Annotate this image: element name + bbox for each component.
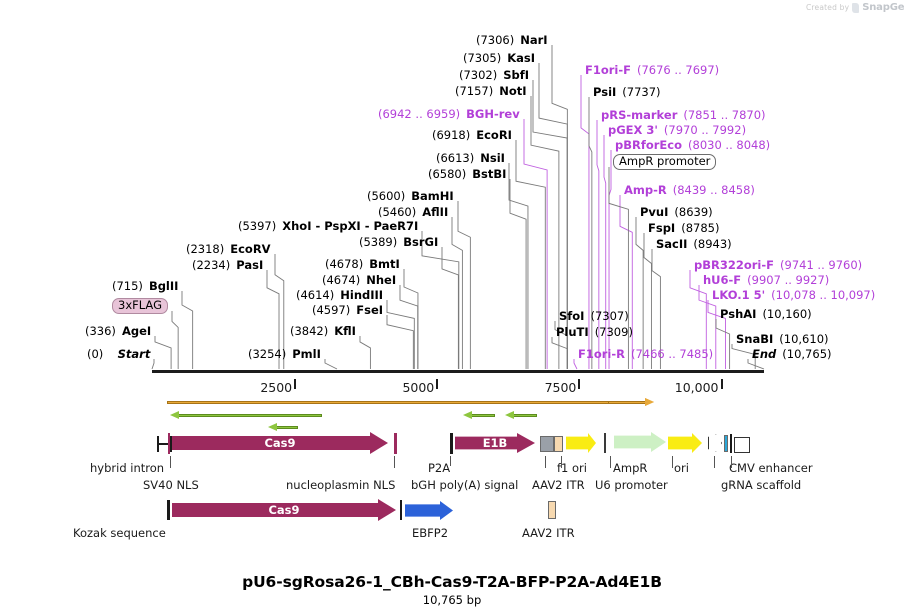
sv40-nls-marker (168, 433, 170, 454)
feature-connector (561, 456, 562, 468)
ruler-tick-label: 7500 (545, 380, 577, 395)
leader-line (516, 140, 545, 369)
primer-arrow-primer-2[interactable] (608, 398, 654, 407)
enzyme-position: (5397) (238, 219, 276, 233)
leader-line (387, 300, 414, 369)
enzyme-position: (4678) (325, 257, 363, 271)
primer-arrowhead-icon (645, 398, 654, 406)
enzyme-name: PmlI (292, 347, 321, 361)
enzyme-position: (6580) (428, 167, 466, 181)
feature-label-aav2-itr[interactable]: AAV2 ITR (522, 526, 575, 540)
enzyme-position: (7970 .. 7992) (664, 123, 746, 137)
feature-connector (714, 456, 715, 468)
enzyme-label-nari[interactable]: (7306)NarI (476, 34, 548, 46)
enzyme-position: (7737) (622, 85, 660, 99)
enzyme-name: BstBI (472, 167, 506, 181)
leader-line (152, 359, 154, 369)
feature-cmv-box[interactable] (734, 437, 750, 453)
enzyme-label-snabi[interactable]: SnaBI(10,610) (736, 333, 829, 345)
start-name: Start (118, 347, 151, 361)
enzyme-label-kasi[interactable]: (7305)KasI (463, 52, 535, 64)
enzyme-name: F1ori-R (578, 347, 625, 361)
enzyme-position: (6613) (436, 151, 474, 165)
enzyme-label-nsii[interactable]: (6613)NsiI (436, 152, 505, 164)
enzyme-position: (10,610) (779, 332, 828, 346)
grna-left-bracket (730, 434, 732, 453)
primer-arrow-primer-6[interactable] (268, 423, 298, 432)
enzyme-name: NotI (499, 84, 526, 98)
feature-label-ampr[interactable]: AmpR (613, 461, 647, 475)
enzyme-label-xhoi-pspxi-paer7i[interactable]: (5397)XhoI - PspXI - PaeR7I (238, 220, 418, 232)
enzyme-position: (2318) (186, 242, 224, 256)
enzyme-name: FspI (648, 221, 675, 235)
enzyme-label-fspi[interactable]: FspI(8785) (648, 222, 719, 234)
enzyme-position: (4674) (322, 273, 360, 287)
enzyme-position: (8639) (674, 205, 712, 219)
feature-label-sv40-nls[interactable]: SV40 NLS (143, 478, 199, 492)
enzyme-position: (336) (85, 324, 116, 338)
leader-line (716, 319, 730, 369)
feature-label-kozak-sequence[interactable]: Kozak sequence (73, 526, 166, 540)
feature-connector (610, 456, 611, 468)
ruler-tick (721, 379, 723, 389)
enzyme-name: BamHI (411, 189, 453, 203)
feature-connector (672, 456, 673, 468)
feature-label-grna-scaffold[interactable]: gRNA scaffold (721, 478, 801, 492)
ruler-tick-label: 5000 (402, 380, 434, 395)
feature-inner-label: E1B (455, 436, 535, 450)
ruler-tick (294, 379, 296, 389)
enzyme-position: (9741 .. 9760) (780, 258, 862, 272)
feature-inner-label: Cas9 (172, 436, 388, 450)
ruler-bar (152, 370, 764, 373)
kozak-marker (167, 500, 170, 520)
enzyme-position: (5389) (359, 235, 397, 249)
enzyme-name: SnaBI (736, 332, 773, 346)
leader-line (620, 195, 632, 369)
enzyme-position: (7466 .. 7485) (631, 347, 713, 361)
enzyme-position: (10,765) (782, 347, 831, 361)
primer-arrow-primer-3[interactable] (170, 411, 322, 420)
ruler-tick-label: 10,000 (675, 380, 719, 395)
enzyme-label-pgex-3-[interactable]: pGEX 3'(7970 .. 7992) (608, 124, 746, 136)
feature-label-u6-promoter[interactable]: U6 promoter (595, 478, 668, 492)
feature-label-ebfp2[interactable]: EBFP2 (412, 526, 448, 540)
feature-grna-blue[interactable] (724, 435, 728, 452)
enzyme-label-prs-marker[interactable]: pRS-marker(7851 .. 7870) (601, 109, 766, 121)
feature-bgh-box[interactable] (540, 436, 554, 452)
enzyme-position: (6942 .. 6959) (378, 107, 460, 121)
leader-line (325, 359, 337, 369)
enzyme-label-end[interactable]: End(10,765) (752, 348, 832, 360)
enzyme-name: pBRforEco (615, 138, 682, 152)
primer-arrow-primer-4[interactable] (463, 411, 495, 420)
enzyme-name: PshAI (720, 307, 756, 321)
leader-line (172, 311, 178, 369)
enzyme-label-hu6-f[interactable]: hU6-F(9907 .. 9927) (703, 274, 829, 286)
leader-line (510, 179, 526, 369)
enzyme-position: (7302) (459, 68, 497, 82)
enzyme-name: Amp-R (624, 183, 667, 197)
primer-arrowhead-icon (505, 411, 514, 419)
enzyme-name: PasI (236, 258, 263, 272)
primer-arrowhead-icon (170, 411, 179, 419)
u6-left-bracket (604, 433, 606, 453)
feature-itr-box[interactable] (554, 436, 563, 452)
feature-connector (170, 456, 171, 468)
ruler-tick (578, 379, 580, 389)
enzyme-name: NheI (366, 273, 396, 287)
enzyme-label-amp-r[interactable]: Amp-R(8439 .. 8458) (624, 184, 755, 196)
enzyme-label-bglii[interactable]: (715)BglII (112, 280, 178, 292)
feature-label-bgh-poly-a-signal[interactable]: bGH poly(A) signal (411, 478, 518, 492)
enzyme-name: FseI (356, 303, 383, 317)
leader-line (387, 315, 413, 369)
enzyme-name: XhoI - PspXI - PaeR7I (282, 219, 418, 233)
enzyme-position: (7851 .. 7870) (683, 108, 765, 122)
enzyme-name: EcoRI (476, 128, 512, 142)
enzyme-name: End (752, 347, 776, 361)
enzyme-position: (6918) (432, 128, 470, 142)
enzyme-label-ecori[interactable]: (6918)EcoRI (432, 129, 512, 141)
leader-line (524, 119, 547, 369)
enzyme-name: pBR322ori-F (694, 258, 774, 272)
enzyme-label-bstbi[interactable]: (6580)BstBI (428, 168, 506, 180)
enzyme-name: AgeI (122, 324, 151, 338)
enzyme-name: SfoI (559, 309, 584, 323)
leader-line (182, 291, 193, 369)
enzyme-name: LKO.1 5' (712, 288, 765, 302)
enzyme-position: (10,160) (762, 307, 811, 321)
enzyme-label-bgh-rev[interactable]: (6942 .. 6959)BGH-rev (378, 108, 520, 120)
enzyme-position: (5460) (378, 205, 416, 219)
enzyme-position: (8943) (693, 237, 731, 251)
enzyme-label-bamhi[interactable]: (5600)BamHI (367, 190, 454, 202)
feature-aav2itr2[interactable] (548, 501, 556, 519)
enzyme-name: BglII (149, 279, 179, 293)
leader-line (509, 163, 528, 369)
feature-label-ori[interactable]: ori (674, 461, 689, 475)
enzyme-position: (3842) (290, 324, 328, 338)
enzyme-name: AflII (422, 205, 448, 219)
ruler-tick-label: 2500 (260, 380, 292, 395)
start-label: (0) Start (87, 348, 150, 360)
enzyme-position: (8030 .. 8048) (688, 138, 770, 152)
enzyme-label-sfoi[interactable]: SfoI(7307) (559, 310, 629, 322)
enzyme-name: pRS-marker (601, 108, 677, 122)
enzyme-position: (4597) (312, 303, 350, 317)
primer-arrow-primer-1[interactable] (167, 398, 654, 407)
enzyme-label-noti[interactable]: (7157)NotI (455, 85, 527, 97)
boxed-feature-label-ampr-promoter[interactable]: AmpR promoter (613, 154, 716, 170)
feature-connector (450, 456, 451, 466)
enzyme-name: EcoRV (230, 242, 270, 256)
enzyme-label-f1ori-r[interactable]: F1ori-R(7466 .. 7485) (578, 348, 713, 360)
feature-connector (731, 456, 732, 468)
enzyme-name: BsrGI (403, 235, 438, 249)
feature-connector (394, 456, 395, 468)
leader-line (404, 269, 418, 369)
enzyme-position: (7157) (455, 84, 493, 98)
enzyme-label-pluti[interactable]: PluTI(7309) (556, 326, 633, 338)
enzyme-name: KasI (507, 51, 535, 65)
enzyme-position: (4614) (296, 288, 334, 302)
leader-line (442, 247, 458, 369)
enzyme-label-bsrgi[interactable]: (5389)BsrGI (359, 236, 438, 248)
enzyme-name: NsiI (480, 151, 505, 165)
enzyme-label-pasi[interactable]: (2234)PasI (192, 259, 263, 271)
enzyme-position: (3254) (248, 347, 286, 361)
nucleoplasmin-nls-marker (394, 433, 397, 454)
enzyme-position: (9907 .. 9927) (747, 273, 829, 287)
leader-line (155, 336, 171, 369)
enzyme-label-pbrforeco[interactable]: pBRforEco(8030 .. 8048) (615, 139, 770, 151)
leader-line (452, 217, 462, 369)
ruler-tick (436, 379, 438, 389)
feature-label-aav2-itr[interactable]: AAV2 ITR (532, 478, 585, 492)
page-title: pU6-sgRosa26-1_CBh-Cas9-T2A-BFP-P2A-Ad4E… (0, 573, 904, 591)
feature-label-hybrid-intron[interactable]: hybrid intron (90, 461, 164, 475)
enzyme-label-lko-1-5-[interactable]: LKO.1 5'(10,078 .. 10,097) (712, 289, 875, 301)
enzyme-position: (7307) (590, 309, 628, 323)
ebfp2-marker (400, 500, 402, 520)
enzyme-position: (7676 .. 7697) (637, 63, 719, 77)
enzyme-name: SacII (656, 237, 687, 251)
enzyme-label-pshai[interactable]: PshAI(10,160) (720, 308, 812, 320)
primer-arrowhead-icon (463, 411, 472, 419)
enzyme-position: (7309) (595, 325, 633, 339)
leader-line (552, 337, 568, 369)
enzyme-label-agei[interactable]: (336)AgeI (85, 325, 151, 337)
enzyme-label-sacii[interactable]: SacII(8943) (656, 238, 732, 250)
ruler-bar-lower (152, 375, 764, 379)
feature-label-p2a[interactable]: P2A (428, 461, 450, 475)
enzyme-label-hindiii[interactable]: (4614)HindIII (296, 289, 383, 301)
enzyme-label-f1ori-f[interactable]: F1ori-F(7676 .. 7697) (585, 64, 719, 76)
enzyme-position: (7305) (463, 51, 501, 65)
enzyme-label-pvui[interactable]: PvuI(8639) (640, 206, 713, 218)
leader-line (574, 359, 577, 369)
enzyme-name: NarI (520, 33, 547, 47)
feature-label-cmv-enhancer[interactable]: CMV enhancer (729, 461, 813, 475)
enzyme-label-pbr322ori-f[interactable]: pBR322ori-F(9741 .. 9760) (694, 259, 862, 271)
enzyme-name: BmtI (369, 257, 400, 271)
enzyme-label-kfli[interactable]: (3842)KflI (290, 325, 356, 337)
enzyme-position: (7306) (476, 33, 514, 47)
leader-line (458, 201, 470, 369)
enzyme-name: pGEX 3' (608, 123, 658, 137)
enzyme-position: (8785) (681, 221, 719, 235)
primer-arrowhead-icon (268, 423, 277, 431)
enzyme-label-bmti[interactable]: (4678)BmtI (325, 258, 400, 270)
start-position: (0) (87, 347, 103, 361)
boxed-feature-label-3xflag[interactable]: 3xFLAG (112, 298, 168, 314)
enzyme-label-pmli[interactable]: (3254)PmlI (248, 348, 321, 360)
p2a-marker (450, 433, 453, 454)
leader-line (360, 336, 370, 369)
leader-line (539, 63, 567, 369)
enzyme-name: BGH-rev (466, 107, 520, 121)
enzyme-label-nhei[interactable]: (4674)NheI (322, 274, 396, 286)
primer-arrow-primer-5[interactable] (505, 411, 537, 420)
enzyme-position: (2234) (192, 258, 230, 272)
enzyme-name: hU6-F (703, 273, 741, 287)
enzyme-label-aflii[interactable]: (5460)AflII (378, 206, 448, 218)
feature-label-nucleoplasmin-nls[interactable]: nucleoplasmin NLS (286, 478, 395, 492)
enzyme-label-ecorv[interactable]: (2318)EcoRV (186, 243, 271, 255)
enzyme-name: F1ori-F (585, 63, 631, 77)
feature-inner-label: Cas9 (172, 503, 396, 517)
enzyme-position: (715) (112, 279, 143, 293)
enzyme-label-psii[interactable]: PsiI(7737) (593, 86, 661, 98)
enzyme-name: KflI (334, 324, 356, 338)
leader-line (422, 231, 459, 369)
enzyme-name: PvuI (640, 205, 668, 219)
enzyme-name: HindIII (340, 288, 383, 302)
enzyme-position: (8439 .. 8458) (673, 183, 755, 197)
page-subtitle: 10,765 bp (0, 593, 904, 607)
enzyme-name: PluTI (556, 325, 589, 339)
leader-line (400, 285, 418, 369)
enzyme-position: (5600) (367, 189, 405, 203)
enzyme-label-sbfi[interactable]: (7302)SbfI (459, 69, 529, 81)
enzyme-name: PsiI (593, 85, 616, 99)
feature-connector (545, 456, 546, 468)
enzyme-label-fsei[interactable]: (4597)FseI (312, 304, 383, 316)
enzyme-position: (10,078 .. 10,097) (771, 288, 875, 302)
enzyme-name: SbfI (503, 68, 529, 82)
